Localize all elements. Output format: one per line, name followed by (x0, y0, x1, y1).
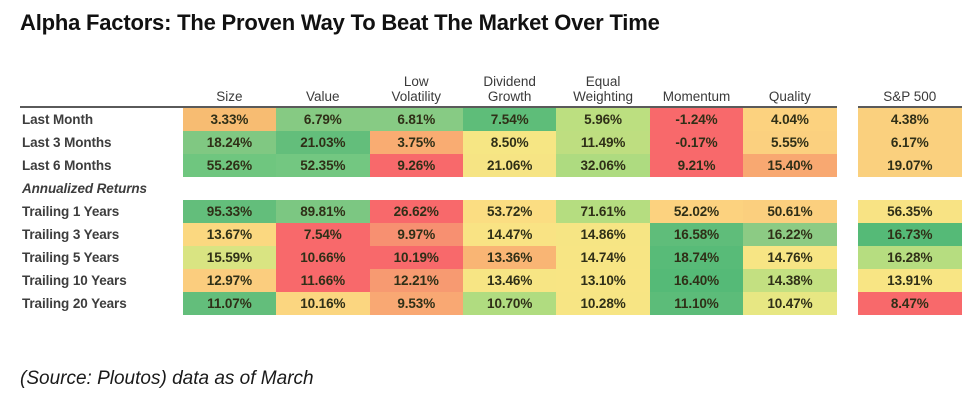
heatmap-cell: 18.24% (183, 131, 276, 154)
column-header-quality: Quality (743, 62, 836, 107)
heatmap-cell: 14.47% (463, 223, 556, 246)
alpha-factors-heatmap-table: Size Value Low Volatility Dividend Growt… (20, 62, 962, 315)
benchmark-cell: 13.91% (858, 269, 963, 292)
benchmark-cell (858, 177, 963, 200)
column-gap (837, 292, 858, 315)
heatmap-cell (556, 177, 649, 200)
column-gap (837, 131, 858, 154)
heatmap-cell: 4.04% (743, 107, 836, 131)
heatmap-cell: 14.38% (743, 269, 836, 292)
heatmap-cell: 13.67% (183, 223, 276, 246)
heatmap-cell: -0.17% (650, 131, 743, 154)
table-body: Last Month3.33%6.79%6.81%7.54%5.96%-1.24… (20, 107, 962, 315)
column-gap (837, 177, 858, 200)
column-header-line1: Equal (556, 74, 649, 89)
heatmap-cell (463, 177, 556, 200)
benchmark-cell: 16.28% (858, 246, 963, 269)
row-label: Trailing 10 Years (20, 269, 183, 292)
row-label: Last 6 Months (20, 154, 183, 177)
heatmap-cell: 9.53% (370, 292, 463, 315)
row-label: Trailing 1 Years (20, 200, 183, 223)
benchmark-cell: 6.17% (858, 131, 963, 154)
source-note: (Source: Ploutos) data as of March (20, 368, 314, 390)
table-row: Trailing 1 Years95.33%89.81%26.62%53.72%… (20, 200, 962, 223)
heatmap-cell: 9.26% (370, 154, 463, 177)
heatmap-cell: 5.96% (556, 107, 649, 131)
column-header-line1: Dividend (463, 74, 556, 89)
heatmap-cell: 14.74% (556, 246, 649, 269)
column-header-equal-weighting: Equal Weighting (556, 62, 649, 107)
benchmark-cell: 19.07% (858, 154, 963, 177)
heatmap-cell: 95.33% (183, 200, 276, 223)
page-title: Alpha Factors: The Proven Way To Beat Th… (20, 10, 660, 36)
heatmap-cell: 8.50% (463, 131, 556, 154)
column-header-line2: S&P 500 (858, 89, 963, 104)
table-row: Annualized Returns (20, 177, 962, 200)
column-header-line2: Growth (463, 89, 556, 104)
column-gap (837, 200, 858, 223)
table-row: Trailing 10 Years12.97%11.66%12.21%13.46… (20, 269, 962, 292)
heatmap-cell: 7.54% (463, 107, 556, 131)
heatmap-cell: 89.81% (276, 200, 369, 223)
heatmap-cell: 71.61% (556, 200, 649, 223)
section-label: Annualized Returns (20, 177, 183, 200)
column-header-line2: Size (183, 89, 276, 104)
table-row: Last 6 Months55.26%52.35%9.26%21.06%32.0… (20, 154, 962, 177)
heatmap-cell (650, 177, 743, 200)
heatmap-cell: 16.40% (650, 269, 743, 292)
heatmap-cell: 16.22% (743, 223, 836, 246)
table-row: Trailing 5 Years15.59%10.66%10.19%13.36%… (20, 246, 962, 269)
column-header-value: Value (276, 62, 369, 107)
heatmap-cell: 11.07% (183, 292, 276, 315)
heatmap-cell: 50.61% (743, 200, 836, 223)
row-label: Trailing 3 Years (20, 223, 183, 246)
benchmark-cell: 4.38% (858, 107, 963, 131)
heatmap-cell: 14.86% (556, 223, 649, 246)
heatmap-cell: 10.19% (370, 246, 463, 269)
heatmap-cell: 6.79% (276, 107, 369, 131)
heatmap-cell: 16.58% (650, 223, 743, 246)
heatmap-cell: 10.70% (463, 292, 556, 315)
table-row: Trailing 3 Years13.67%7.54%9.97%14.47%14… (20, 223, 962, 246)
table-row: Trailing 20 Years11.07%10.16%9.53%10.70%… (20, 292, 962, 315)
heatmap-cell: 11.10% (650, 292, 743, 315)
heatmap-cell: 9.97% (370, 223, 463, 246)
heatmap-cell: 10.28% (556, 292, 649, 315)
heatmap-cell: 55.26% (183, 154, 276, 177)
column-header-dividend-growth: Dividend Growth (463, 62, 556, 107)
heatmap-cell: 5.55% (743, 131, 836, 154)
heatmap-cell: 10.47% (743, 292, 836, 315)
heatmap-cell: 3.75% (370, 131, 463, 154)
heatmap-cell: 32.06% (556, 154, 649, 177)
column-gap (837, 154, 858, 177)
table-row: Last 3 Months18.24%21.03%3.75%8.50%11.49… (20, 131, 962, 154)
benchmark-cell: 56.35% (858, 200, 963, 223)
table-header: Size Value Low Volatility Dividend Growt… (20, 62, 962, 107)
heatmap-cell (370, 177, 463, 200)
column-header-line2: Momentum (650, 89, 743, 104)
heatmap-cell: 12.97% (183, 269, 276, 292)
row-label: Last Month (20, 107, 183, 131)
header-row-label-spacer (20, 62, 183, 107)
heatmap-cell: 13.46% (463, 269, 556, 292)
benchmark-cell: 16.73% (858, 223, 963, 246)
table-row: Last Month3.33%6.79%6.81%7.54%5.96%-1.24… (20, 107, 962, 131)
heatmap-cell (276, 177, 369, 200)
row-label: Last 3 Months (20, 131, 183, 154)
heatmap-cell: 14.76% (743, 246, 836, 269)
heatmap-cell: 18.74% (650, 246, 743, 269)
alpha-factors-table-container: Size Value Low Volatility Dividend Growt… (20, 62, 962, 315)
column-header-line2: Value (276, 89, 369, 104)
column-gap (837, 107, 858, 131)
column-header-line1: Low (370, 74, 463, 89)
column-gap (837, 246, 858, 269)
heatmap-cell (183, 177, 276, 200)
heatmap-cell: 26.62% (370, 200, 463, 223)
column-header-line2: Weighting (556, 89, 649, 104)
heatmap-cell: 52.02% (650, 200, 743, 223)
benchmark-cell: 8.47% (858, 292, 963, 315)
heatmap-cell: 13.36% (463, 246, 556, 269)
heatmap-cell: 12.21% (370, 269, 463, 292)
heatmap-cell: 11.66% (276, 269, 369, 292)
heatmap-cell: 9.21% (650, 154, 743, 177)
column-header-line2: Quality (743, 89, 836, 104)
heatmap-cell: -1.24% (650, 107, 743, 131)
heatmap-cell: 21.03% (276, 131, 369, 154)
heatmap-cell: 11.49% (556, 131, 649, 154)
header-column-gap (837, 62, 858, 107)
heatmap-cell: 15.40% (743, 154, 836, 177)
column-gap (837, 223, 858, 246)
row-label: Trailing 20 Years (20, 292, 183, 315)
column-header-momentum: Momentum (650, 62, 743, 107)
column-header-low-volatility: Low Volatility (370, 62, 463, 107)
heatmap-cell (743, 177, 836, 200)
header-row: Size Value Low Volatility Dividend Growt… (20, 62, 962, 107)
column-header-sp500: S&P 500 (858, 62, 963, 107)
column-header-size: Size (183, 62, 276, 107)
heatmap-cell: 52.35% (276, 154, 369, 177)
column-header-line2: Volatility (370, 89, 463, 104)
heatmap-cell: 21.06% (463, 154, 556, 177)
heatmap-cell: 7.54% (276, 223, 369, 246)
heatmap-cell: 3.33% (183, 107, 276, 131)
heatmap-cell: 13.10% (556, 269, 649, 292)
column-gap (837, 269, 858, 292)
heatmap-cell: 53.72% (463, 200, 556, 223)
heatmap-cell: 10.16% (276, 292, 369, 315)
heatmap-cell: 15.59% (183, 246, 276, 269)
heatmap-cell: 6.81% (370, 107, 463, 131)
row-label: Trailing 5 Years (20, 246, 183, 269)
heatmap-cell: 10.66% (276, 246, 369, 269)
